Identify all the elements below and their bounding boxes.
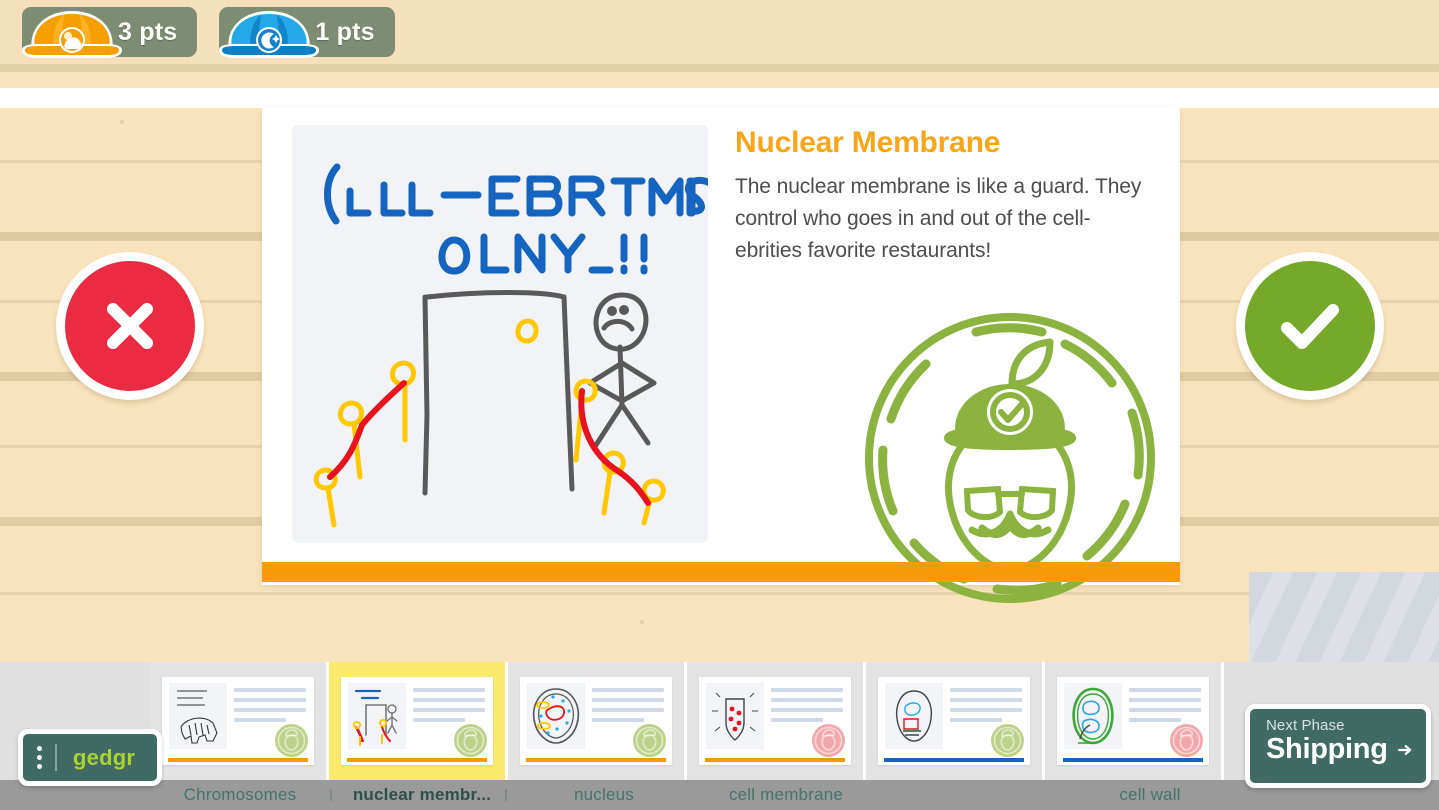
filmstrip-text-line xyxy=(234,688,306,692)
next-phase-button[interactable]: Next Phase Shipping xyxy=(1245,704,1431,788)
doorway-drawing xyxy=(292,125,708,543)
filmstrip-sketch xyxy=(169,683,227,749)
filmstrip-underline xyxy=(526,758,666,762)
filmstrip-text-lines xyxy=(234,688,306,728)
points-badge-day[interactable]: 3 pts xyxy=(22,7,197,57)
filmstrip-text-line xyxy=(592,708,664,712)
filmstrip-text-line xyxy=(950,698,1022,702)
filmstrip-text-lines xyxy=(1129,688,1201,728)
filmstrip-text-lines xyxy=(413,688,485,728)
filmstrip-underline xyxy=(884,758,1024,762)
next-phase-sublabel: Next Phase xyxy=(1266,717,1412,734)
points-value-day: 3 pts xyxy=(118,18,177,47)
sun-cloud-icon xyxy=(20,2,124,64)
topbar-edge xyxy=(0,64,1439,72)
user-badge[interactable]: gedgr xyxy=(18,729,162,786)
check-icon xyxy=(1270,286,1350,366)
filmstrip-text-line xyxy=(771,698,843,702)
filmstrip-mini-card xyxy=(341,677,493,765)
bg-speck xyxy=(640,620,644,624)
idea-filmstrip: Chromosomesnuclear membr...nucleuscell m… xyxy=(0,662,1439,810)
filmstrip-sketch xyxy=(885,683,943,749)
timeline-label[interactable]: nucleus xyxy=(574,785,634,805)
filmstrip-sketch xyxy=(348,683,406,749)
filmstrip-item[interactable] xyxy=(687,662,866,780)
reject-button[interactable] xyxy=(56,252,204,400)
timeline-label[interactable]: Chromosomes xyxy=(184,785,297,805)
filmstrip-text-line xyxy=(234,698,306,702)
filmstrip-text-line xyxy=(234,718,286,722)
card-body: The nuclear membrane is like a guard. Th… xyxy=(735,171,1155,267)
kebab-menu-icon[interactable] xyxy=(37,746,42,769)
filmstrip-text-line xyxy=(950,708,1022,712)
filmstrip-avatar xyxy=(1170,724,1203,757)
filmstrip-row xyxy=(150,662,1224,780)
filmstrip-underline xyxy=(705,758,845,762)
filmstrip-text-line xyxy=(413,688,485,692)
filmstrip-avatar xyxy=(991,724,1024,757)
filmstrip-text-line xyxy=(592,698,664,702)
filmstrip-mini-card xyxy=(1057,677,1209,765)
filmstrip-sketch xyxy=(706,683,764,749)
points-value-night: 1 pts xyxy=(315,18,374,47)
accept-button[interactable] xyxy=(1236,252,1384,400)
filmstrip-text-line xyxy=(1129,708,1201,712)
filmstrip-text-line xyxy=(771,708,843,712)
filmstrip-text-line xyxy=(771,688,843,692)
filmstrip-mini-card xyxy=(162,677,314,765)
bg-seam xyxy=(0,592,1439,595)
arrow-right-icon xyxy=(1398,739,1412,761)
next-phase-label: Shipping xyxy=(1266,733,1388,766)
filmstrip-avatar xyxy=(633,724,666,757)
filmstrip-text-line xyxy=(413,718,465,722)
user-name: gedgr xyxy=(73,745,135,771)
filmstrip-item[interactable] xyxy=(866,662,1045,780)
filmstrip-text-line xyxy=(1129,698,1201,702)
filmstrip-underline xyxy=(347,758,487,762)
filmstrip-item[interactable] xyxy=(508,662,687,780)
timeline-label[interactable]: cell membrane xyxy=(729,785,843,805)
points-badge-night[interactable]: 1 pts xyxy=(219,7,394,57)
filmstrip-text-lines xyxy=(950,688,1022,728)
filmstrip-item[interactable] xyxy=(329,662,508,780)
filmstrip-mini-card xyxy=(520,677,672,765)
timeline-tick xyxy=(330,789,332,801)
filmstrip-text-lines xyxy=(771,688,843,728)
filmstrip-item[interactable] xyxy=(1045,662,1224,780)
idea-card: Nuclear Membrane The nuclear membrane is… xyxy=(262,108,1180,585)
filmstrip-text-line xyxy=(950,688,1022,692)
filmstrip-text-line xyxy=(592,718,644,722)
filmstrip-text-line xyxy=(950,718,1002,722)
filmstrip-sketch xyxy=(527,683,585,749)
filmstrip-text-line xyxy=(234,708,306,712)
moon-star-icon xyxy=(217,2,321,64)
filmstrip-avatar xyxy=(812,724,845,757)
filmstrip-avatar xyxy=(454,724,487,757)
bg-speck xyxy=(120,120,124,124)
card-title: Nuclear Membrane xyxy=(735,126,1155,160)
sketch-canvas xyxy=(292,125,708,543)
timeline-label[interactable]: cell wall xyxy=(1119,785,1180,805)
badge-divider xyxy=(55,744,57,771)
card-text-block: Nuclear Membrane The nuclear membrane is… xyxy=(735,126,1155,267)
points-group: 3 pts 1 xyxy=(22,7,395,57)
filmstrip-text-line xyxy=(592,688,664,692)
points-topbar: 3 pts 1 xyxy=(0,0,1439,72)
filmstrip-sketch xyxy=(1064,683,1122,749)
x-icon xyxy=(93,289,167,363)
app-root: 3 pts 1 xyxy=(0,0,1439,810)
filmstrip-text-line xyxy=(413,708,485,712)
timeline-label[interactable]: nuclear membr... xyxy=(353,785,491,805)
filmstrip-text-line xyxy=(771,718,823,722)
filmstrip-mini-card xyxy=(699,677,851,765)
conveyor-panel xyxy=(1249,572,1439,662)
filmstrip-underline xyxy=(168,758,308,762)
filmstrip-text-line xyxy=(1129,718,1181,722)
phase-timeline: Chromosomesnuclear membr...nucleuscell m… xyxy=(0,780,1439,810)
card-backdrop-band xyxy=(0,88,1439,108)
filmstrip-text-line xyxy=(1129,688,1201,692)
filmstrip-text-line xyxy=(413,698,485,702)
filmstrip-underline xyxy=(1063,758,1203,762)
filmstrip-item[interactable] xyxy=(150,662,329,780)
next-phase-main: Shipping xyxy=(1266,733,1412,766)
card-accent-bar xyxy=(262,562,1180,582)
timeline-tick xyxy=(505,789,507,801)
filmstrip-avatar xyxy=(275,724,308,757)
filmstrip-text-lines xyxy=(592,688,664,728)
filmstrip-mini-card xyxy=(878,677,1030,765)
